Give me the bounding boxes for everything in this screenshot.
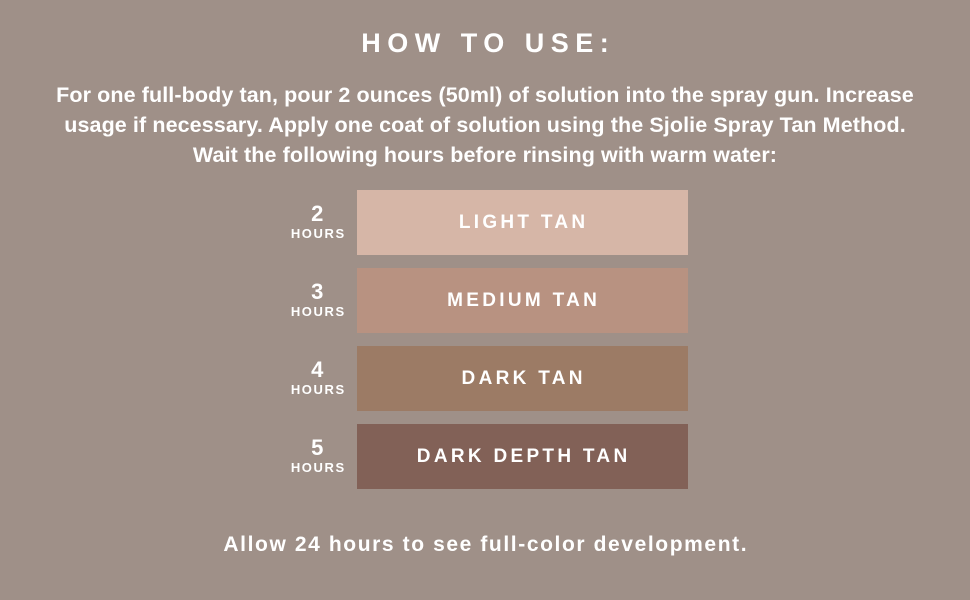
how-to-use-infographic: HOW TO USE: For one full-body tan, pour …: [0, 0, 970, 600]
table-row: 2 HOURS LIGHT TAN: [283, 190, 688, 255]
hours-label-3: 3 HOURS: [283, 268, 357, 333]
hours-label-2: 2 HOURS: [283, 190, 357, 255]
hours-word: HOURS: [289, 381, 346, 398]
hours-word: HOURS: [289, 459, 346, 476]
color-swatch-light-tan: LIGHT TAN: [357, 190, 688, 255]
hours-word: HOURS: [289, 225, 346, 242]
hours-word: HOURS: [289, 303, 346, 320]
color-swatch-dark-depth-tan: DARK DEPTH TAN: [357, 424, 688, 489]
page-title: HOW TO USE:: [355, 30, 616, 57]
hours-number: 5: [311, 437, 324, 459]
swatch-label: LIGHT TAN: [456, 213, 589, 232]
swatch-label: DARK TAN: [458, 369, 586, 388]
hours-label-5: 5 HOURS: [283, 424, 357, 489]
color-swatch-dark-tan: DARK TAN: [357, 346, 688, 411]
instructions-paragraph: For one full-body tan, pour 2 ounces (50…: [45, 80, 925, 170]
swatch-label: MEDIUM TAN: [444, 291, 600, 310]
table-row: 3 HOURS MEDIUM TAN: [283, 268, 688, 333]
swatch-label: DARK DEPTH TAN: [414, 447, 631, 466]
color-swatch-medium-tan: MEDIUM TAN: [357, 268, 688, 333]
shade-timing-table: 2 HOURS LIGHT TAN 3 HOURS MEDIUM TAN 4 H…: [283, 190, 688, 489]
hours-label-4: 4 HOURS: [283, 346, 357, 411]
hours-number: 4: [311, 359, 324, 381]
table-row: 4 HOURS DARK TAN: [283, 346, 688, 411]
hours-number: 2: [311, 203, 324, 225]
footer-note: Allow 24 hours to see full-color develop…: [222, 534, 748, 555]
table-row: 5 HOURS DARK DEPTH TAN: [283, 424, 688, 489]
hours-number: 3: [311, 281, 324, 303]
